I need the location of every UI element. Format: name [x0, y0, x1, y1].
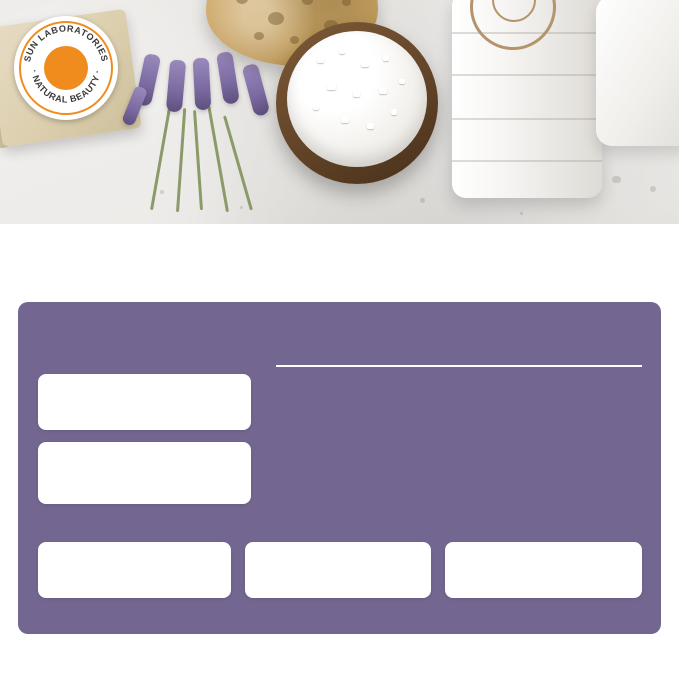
- brand-badge-arc-text: SUN LABORATORIES · NATURAL BEAUTY ·: [21, 23, 111, 113]
- folded-towel-icon: [596, 0, 679, 146]
- product-infographic: SUN LABORATORIES · NATURAL BEAUTY ·: [0, 0, 679, 679]
- features-panel: [18, 302, 661, 634]
- badge-top-arc-label: SUN LABORATORIES: [22, 23, 110, 62]
- feature-chip-paraben-free: [245, 542, 431, 598]
- brand-badge: SUN LABORATORIES · NATURAL BEAUTY ·: [14, 16, 118, 120]
- brand-badge-ring: SUN LABORATORIES · NATURAL BEAUTY ·: [19, 21, 113, 115]
- hero-photo: SUN LABORATORIES · NATURAL BEAUTY ·: [0, 0, 679, 224]
- divider: [276, 365, 642, 367]
- salt-bowl-icon: [276, 22, 438, 184]
- feature-chip-absorbs-instantly: [38, 374, 251, 430]
- feature-chip-natural-looking-bronze-finish: [38, 442, 251, 504]
- bath-salt: [287, 31, 427, 167]
- badge-bottom-arc-label: · NATURAL BEAUTY ·: [30, 69, 103, 105]
- feature-chip-restores-dry-skin: [445, 542, 642, 598]
- feature-chip-cruelty-free: [38, 542, 231, 598]
